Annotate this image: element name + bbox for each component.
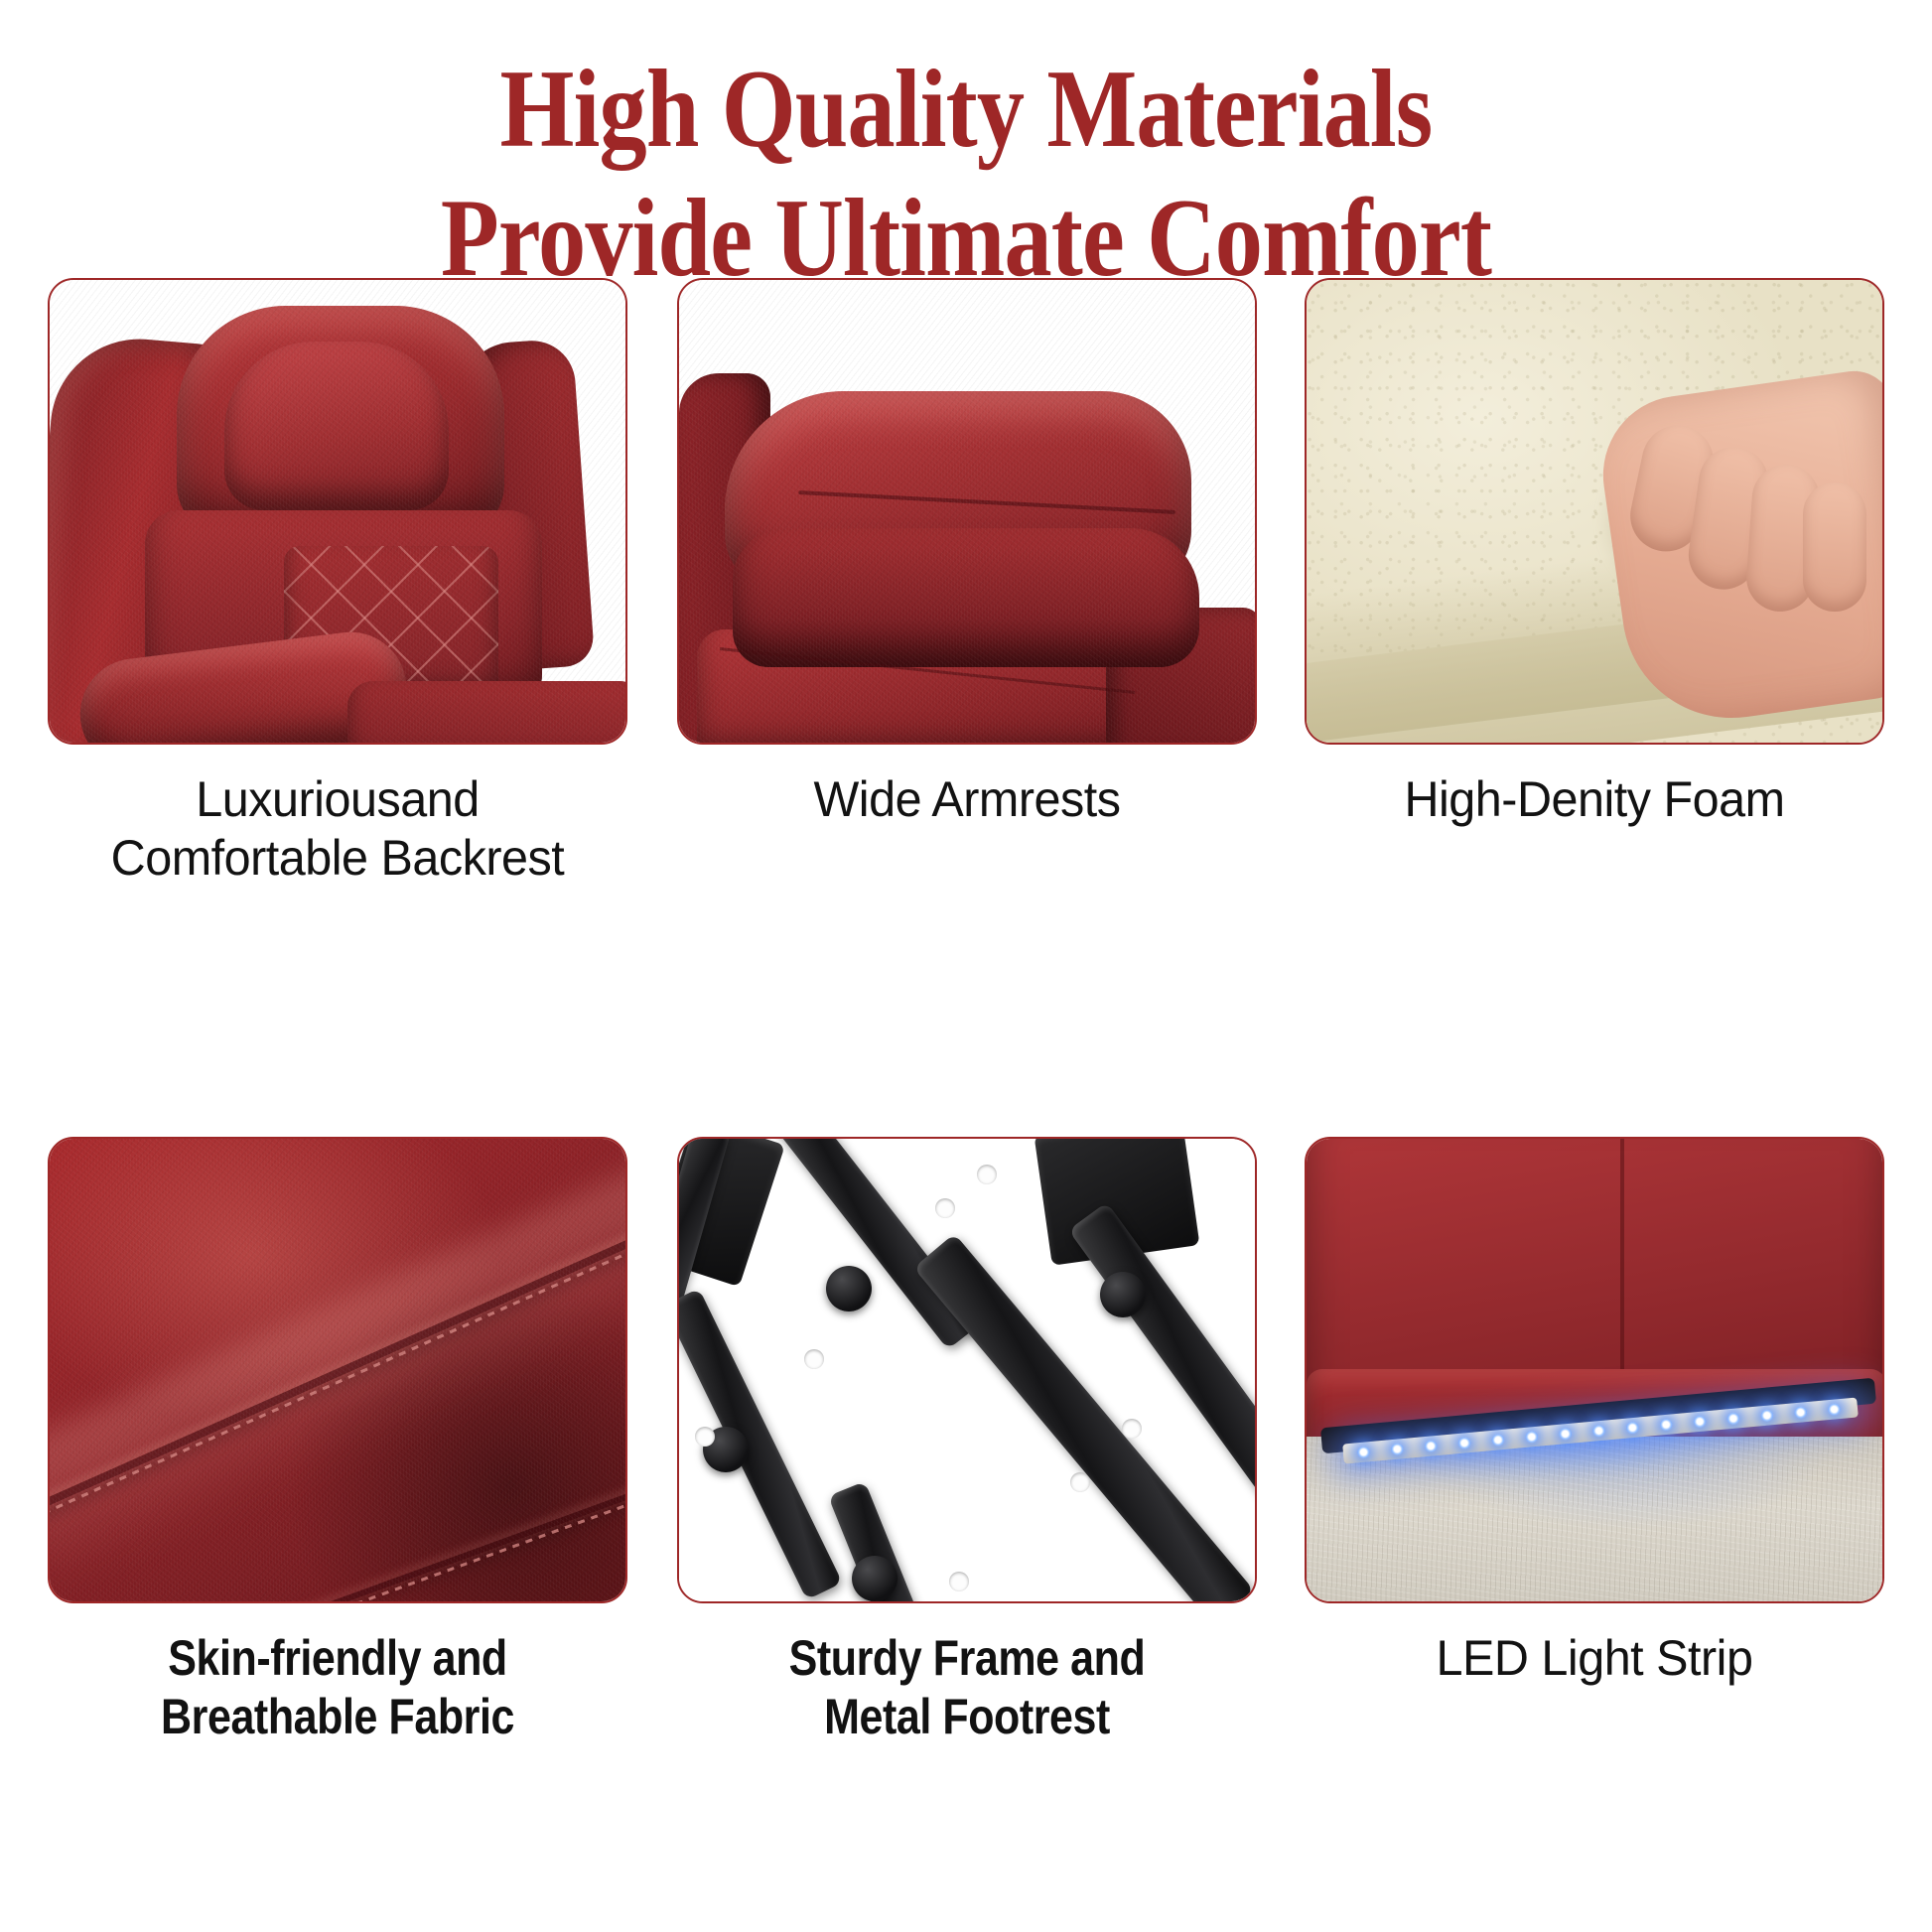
feature-card-foam[interactable]: High-Denity Foam bbox=[1305, 278, 1884, 829]
frame-bolt-hole-2 bbox=[977, 1165, 997, 1184]
led-dot bbox=[1828, 1403, 1842, 1416]
photo-frame-foam bbox=[1305, 278, 1884, 745]
feature-card-backrest[interactable]: Luxuriousand Comfortable Backrest bbox=[48, 278, 627, 888]
photo-frame-led bbox=[1305, 1137, 1884, 1603]
photo-frame-armrests bbox=[677, 278, 1257, 745]
frame-bolt-hole-5 bbox=[1070, 1472, 1090, 1492]
leather-grain-overlay bbox=[50, 1139, 625, 1601]
leather-grain-overlay bbox=[679, 280, 1255, 743]
blue-led-light-strip-under-sofa-photo bbox=[1307, 1139, 1882, 1601]
hand-pressing-high-density-foam-photo bbox=[1307, 280, 1882, 743]
led-dot bbox=[1525, 1431, 1539, 1444]
feature-card-fabric[interactable]: Skin-friendly and Breathable Fabric bbox=[48, 1137, 627, 1746]
feature-card-frame[interactable]: Sturdy Frame and Metal Footrest bbox=[677, 1137, 1257, 1746]
caption-line-1: Skin-friendly and bbox=[88, 1629, 587, 1688]
frame-pivot-right bbox=[1100, 1272, 1146, 1317]
frame-bar-main-diagonal bbox=[913, 1233, 1254, 1601]
photo-frame-backrest bbox=[48, 278, 627, 745]
feature-caption-armrests: Wide Armrests bbox=[686, 770, 1248, 829]
led-dot bbox=[1559, 1428, 1573, 1441]
photo-frame-fabric bbox=[48, 1137, 627, 1603]
red-leather-wide-armrest-photo bbox=[679, 280, 1255, 743]
feature-caption-fabric: Skin-friendly and Breathable Fabric bbox=[88, 1629, 587, 1746]
hand-finger-little bbox=[1803, 483, 1866, 612]
feature-caption-led: LED Light Strip bbox=[1313, 1629, 1875, 1688]
frame-bolt-hole-6 bbox=[949, 1572, 969, 1591]
page-title-line-1: High Quality Materials bbox=[135, 46, 1797, 175]
caption-line-2: Metal Footrest bbox=[718, 1688, 1216, 1746]
led-dot bbox=[1760, 1409, 1774, 1422]
feature-caption-frame: Sturdy Frame and Metal Footrest bbox=[718, 1629, 1216, 1746]
red-leather-texture-closeup-photo bbox=[50, 1139, 625, 1601]
feature-caption-foam: High-Denity Foam bbox=[1313, 770, 1875, 829]
led-dot bbox=[1659, 1418, 1673, 1431]
led-dot bbox=[1390, 1443, 1404, 1455]
led-dot bbox=[1457, 1437, 1471, 1449]
leather-grain-overlay bbox=[50, 280, 625, 743]
page-title: High Quality Materials Provide Ultimate … bbox=[0, 46, 1932, 304]
frame-pivot-bottom bbox=[852, 1556, 897, 1601]
caption-line-2: Comfortable Backrest bbox=[57, 829, 619, 888]
feature-card-led[interactable]: LED Light Strip bbox=[1305, 1137, 1884, 1688]
frame-bolt-hole-7 bbox=[695, 1427, 715, 1447]
caption-line-1: Wide Armrests bbox=[686, 770, 1248, 829]
frame-bolt-hole-3 bbox=[804, 1349, 824, 1369]
led-dot bbox=[1693, 1415, 1707, 1428]
led-dot bbox=[1726, 1412, 1740, 1425]
caption-line-1: Luxuriousand bbox=[57, 770, 619, 829]
black-metal-recliner-footrest-mechanism-photo bbox=[679, 1139, 1255, 1601]
caption-line-2: Breathable Fabric bbox=[88, 1688, 587, 1746]
led-dot bbox=[1591, 1425, 1605, 1438]
caption-line-1: Sturdy Frame and bbox=[718, 1629, 1216, 1688]
feature-caption-backrest: Luxuriousand Comfortable Backrest bbox=[57, 770, 619, 888]
caption-line-1: High-Denity Foam bbox=[1313, 770, 1875, 829]
led-dot bbox=[1491, 1434, 1505, 1447]
led-dot bbox=[1424, 1440, 1438, 1452]
red-leather-recliner-backrest-photo bbox=[50, 280, 625, 743]
led-dot bbox=[1794, 1406, 1808, 1419]
frame-bolt-hole-1 bbox=[935, 1198, 955, 1218]
feature-card-armrests[interactable]: Wide Armrests bbox=[677, 278, 1257, 829]
frame-bolt-hole-4 bbox=[1122, 1419, 1142, 1439]
led-dot bbox=[1356, 1446, 1370, 1458]
photo-frame-metal bbox=[677, 1137, 1257, 1603]
frame-pivot-upper bbox=[826, 1266, 872, 1311]
led-dot bbox=[1625, 1421, 1639, 1434]
caption-line-1: LED Light Strip bbox=[1313, 1629, 1875, 1688]
